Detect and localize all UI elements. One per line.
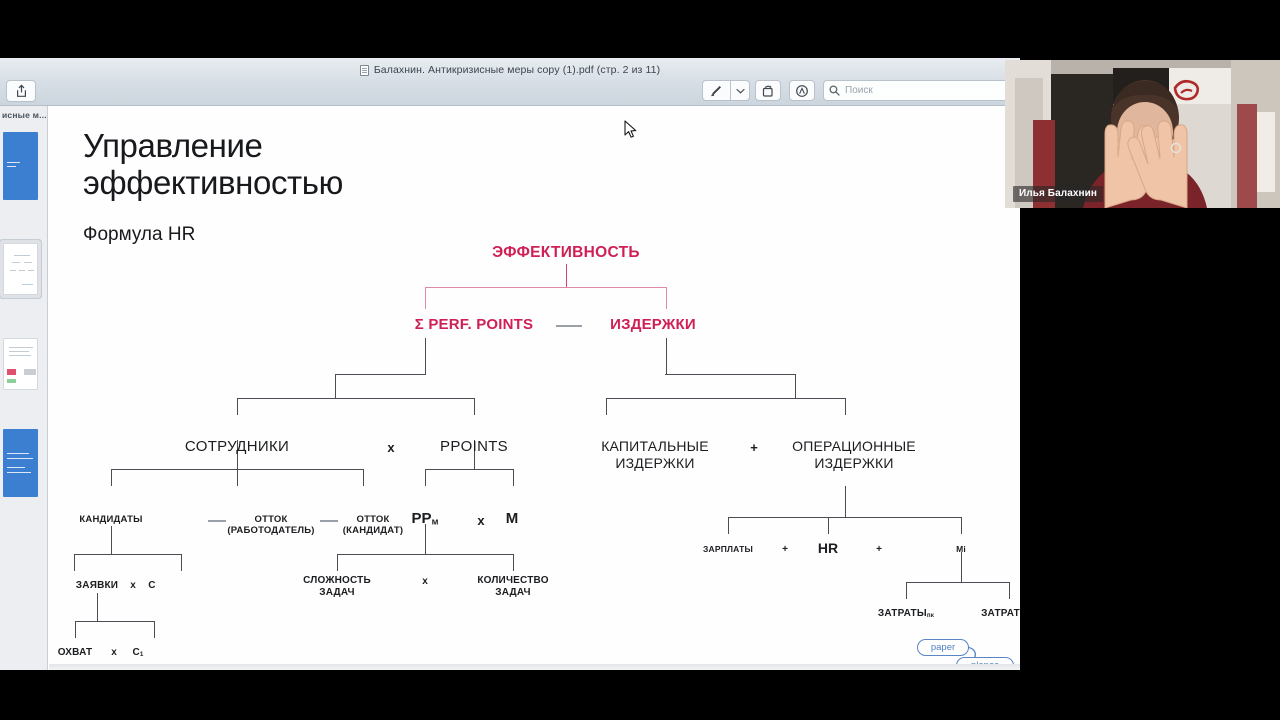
connector [425,287,667,288]
connector [906,582,907,599]
connector [74,554,75,571]
node-employees: СОТРУДНИКИ [185,438,289,456]
search-placeholder: Поиск [845,85,873,96]
share-button[interactable] [6,80,36,102]
connector [961,517,962,534]
operator-plus-3: + [876,544,882,556]
connector [666,287,667,309]
connector [728,517,962,518]
operator-plus-2: + [782,544,788,556]
connector [845,486,846,518]
pdf-preview-window: Балахнин. Антикризисные меры copy (1).pd… [0,58,1020,670]
thumb-page-1[interactable] [3,132,38,200]
thumbnail-sidebar[interactable]: исные м... [0,106,48,670]
node-mi: Mi [956,544,966,554]
connector [425,338,426,375]
node-c1: C1 [132,647,143,659]
node-candidates: КАНДИДАТЫ [79,514,142,525]
rotate-icon [761,84,775,98]
node-effectiveness: ЭФФЕКТИВНОСТЬ [492,244,640,262]
connector [566,264,567,288]
operator-multiply-2: x [477,513,484,528]
page-subtitle: Формула HR [83,224,195,246]
connector [75,621,155,622]
node-operating-costs: ОПЕРАЦИОННЫЕ ИЗДЕРЖКИ [792,438,916,471]
connector [425,469,426,486]
connector [97,593,98,622]
minus-connector [556,325,582,327]
connector [363,469,364,486]
connector [337,554,338,571]
participant-name-label: Илья Балахнин [1013,186,1103,202]
minus-connector [320,520,338,522]
thumb-page-3[interactable] [3,338,38,390]
operator-multiply-4: x [422,576,428,588]
node-salaries: ЗАРПЛАТЫ [703,544,753,554]
connector [425,524,426,555]
window-title: Балахнин. Антикризисные меры copy (1).pd… [0,64,1020,76]
connector [111,469,112,486]
connector [665,374,796,375]
sidebar-title: исные м... [0,106,47,124]
node-pp-m: PPм [412,510,439,528]
rotate-button[interactable] [755,80,781,101]
connector [845,398,846,415]
annotate-button[interactable] [789,80,815,101]
window-title-text: Балахнин. Антикризисные меры copy (1).pd… [374,64,660,76]
markup-tool-button[interactable] [702,80,730,101]
connector [154,621,155,638]
slide-content: Управление эффективностью Формула HR [49,106,1020,663]
connector [425,287,426,309]
operator-plus-1: + [750,440,758,455]
thumb-page-2[interactable] [3,243,38,295]
node-costs-pk: ЗАТРАТЫпк [878,608,934,620]
node-m: M [506,510,519,528]
connector [906,582,1010,583]
node-capital-costs: КАПИТАЛЬНЫЕ ИЗДЕРЖКИ [601,438,709,471]
connector [513,469,514,486]
connector [111,526,112,555]
operator-multiply-3: x [130,580,136,592]
search-icon [829,85,840,96]
node-reach: ОХВАТ [58,647,93,659]
connector [666,338,667,375]
connector [181,554,182,571]
minus-connector [208,520,226,522]
document-icon [360,65,369,76]
connector [75,621,76,638]
connector [474,398,475,415]
node-task-complexity: СЛОЖНОСТЬ ЗАДАЧ [303,575,371,599]
node-costs-uk: ЗАТРАТЫук [981,608,1020,620]
node-churn-employer: ОТТОК (РАБОТОДАТЕЛЬ) [227,514,314,536]
connector [828,517,829,534]
node-churn-candidate: ОТТОК (КАНДИДАТ) [343,514,403,536]
connector [74,554,182,555]
node-hr: HR [818,540,838,557]
connector [606,398,607,415]
page-title: Управление эффективностью [83,128,503,202]
markup-pen-icon [709,83,724,98]
connector [335,374,336,399]
node-costs: ИЗДЕРЖКИ [610,316,696,334]
node-perf-points: Σ PERF. POINTS [415,316,534,334]
markup-dropdown-button[interactable] [730,80,750,101]
logo-word-paper: paper [917,639,969,656]
webcam-overlay[interactable]: Илья Балахнин [1005,60,1280,208]
share-icon [15,84,28,98]
connector [335,374,426,375]
search-input[interactable]: Поиск [823,80,1020,101]
connector [728,517,729,534]
thumb-page-4[interactable] [3,429,38,497]
connector [237,398,238,415]
operator-multiply-5: x [111,647,117,659]
connector [237,469,238,486]
chevron-down-icon [736,88,745,94]
connector [425,469,514,470]
connector [337,554,513,555]
node-applications: ЗАЯВКИ [76,580,118,592]
connector [513,554,514,571]
connector [1009,582,1010,599]
screen: Балахнин. Антикризисные меры copy (1).pd… [0,0,1280,720]
annotate-icon [795,84,809,98]
connector [237,398,475,399]
operator-multiply-1: x [387,440,394,455]
window-toolbar: Балахнин. Антикризисные меры copy (1).pd… [0,58,1020,106]
pdf-page: Управление эффективностью Формула HR [49,106,1020,663]
node-ppoints: PPOINTS [440,438,508,456]
node-c: C [148,580,155,592]
node-task-count: КОЛИЧЕСТВО ЗАДАЧ [477,575,548,599]
connector [961,552,962,583]
mouse-pointer [624,120,638,139]
connector [795,374,796,399]
connector [606,398,845,399]
